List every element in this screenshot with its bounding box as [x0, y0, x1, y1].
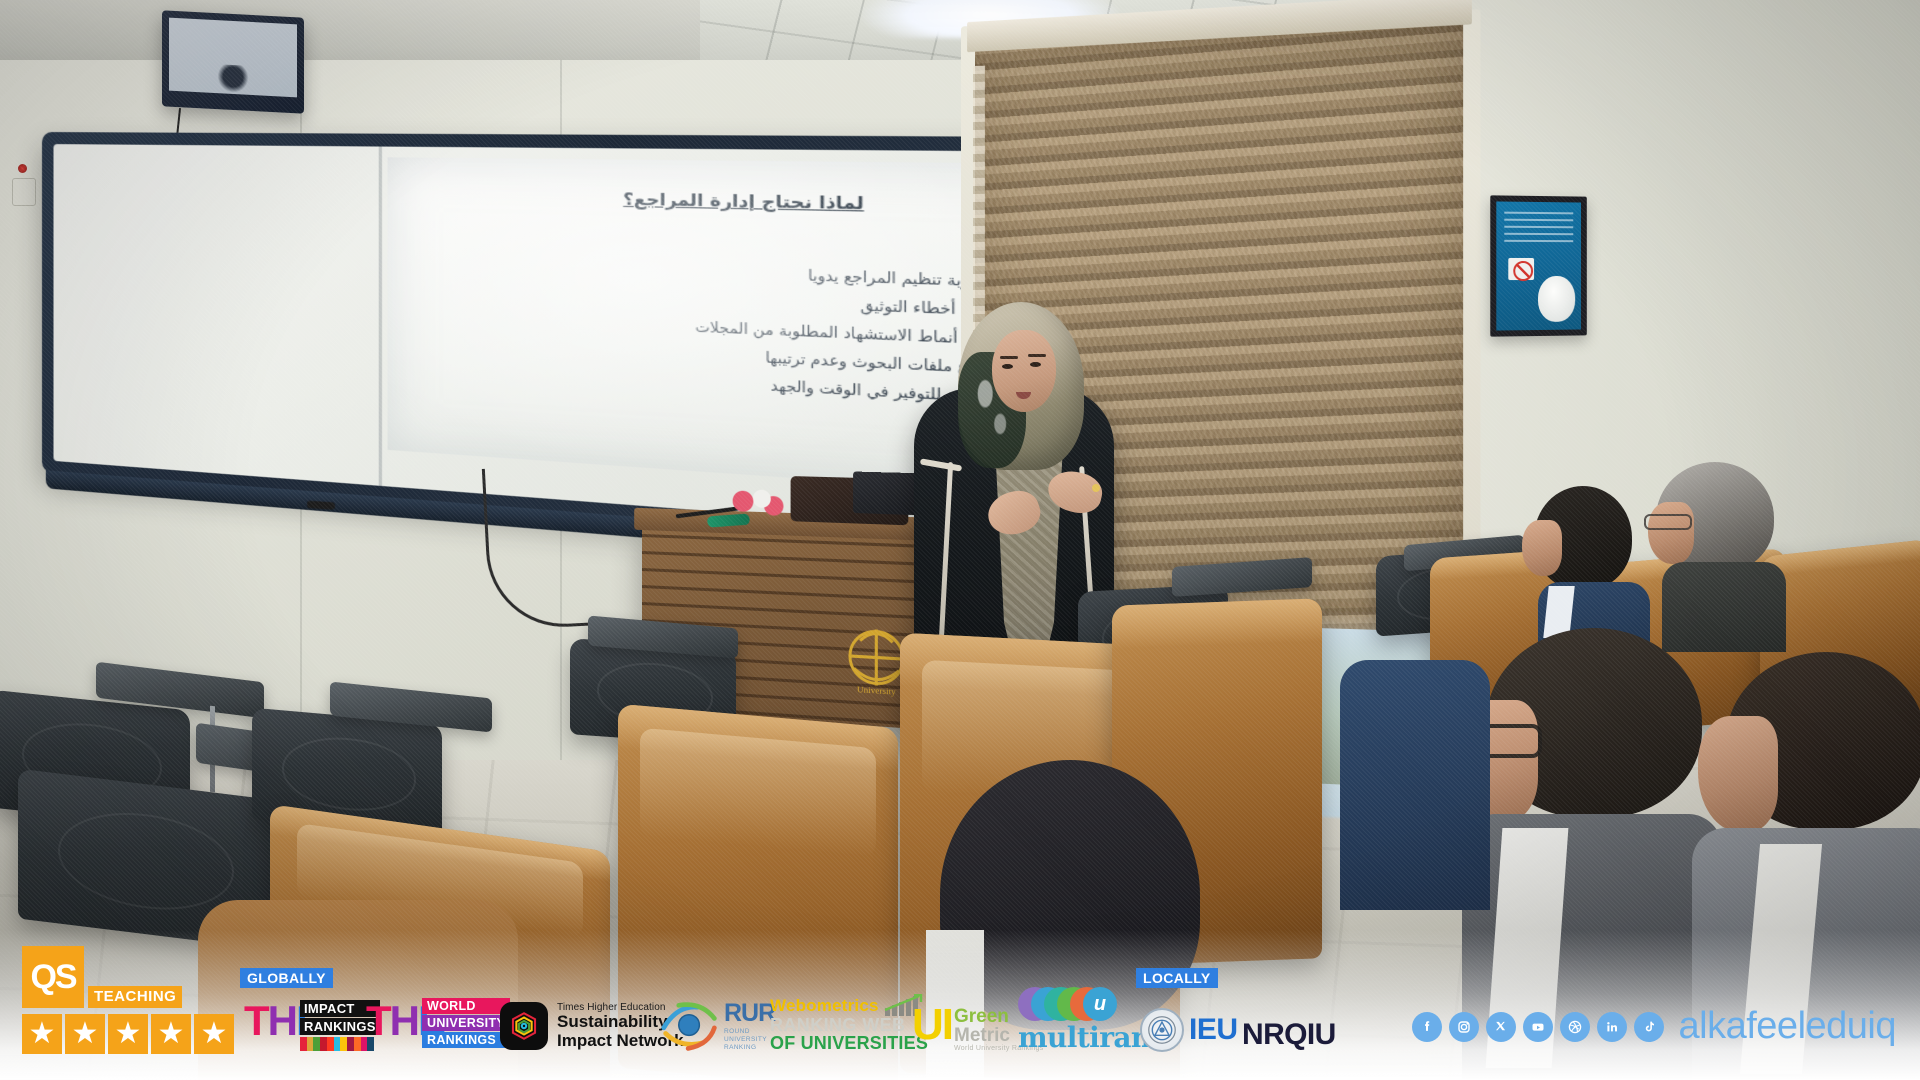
multirank-u-badge: u — [1083, 987, 1117, 1021]
world-line-2: UNIVERSITY — [422, 1015, 510, 1031]
ieu-logo: IEU — [1140, 1008, 1238, 1052]
qs-star-row: ★ ★ ★ ★ ★ — [22, 1014, 234, 1054]
eyeglasses-icon — [1644, 514, 1692, 530]
no-smoking-poster — [1490, 195, 1587, 336]
wall-socket-upper — [12, 178, 36, 206]
qs-star-icon: ★ — [108, 1014, 148, 1054]
wall-picture-image — [169, 18, 297, 98]
ieu-wordmark: IEU — [1189, 1013, 1238, 1047]
audience-member — [1340, 660, 1480, 900]
ieu-seal-icon — [1140, 1008, 1184, 1052]
whiteboard-panel-split — [379, 147, 382, 486]
sustainability-impact-network-logo: Times Higher Education Sustainability Im… — [500, 1002, 684, 1050]
screenshot-root: لماذا نحتاج إدارة المراجع؟ صعوبة تنظيم ا… — [0, 0, 1920, 1080]
rur-wordmark: RUR — [724, 999, 775, 1028]
x-twitter-icon[interactable] — [1486, 1012, 1516, 1042]
world-line-1: WORLD — [422, 998, 510, 1014]
rur-sub-1: ROUND — [724, 1028, 775, 1036]
presenter-ring — [1092, 484, 1100, 492]
poster-artwork — [1496, 201, 1581, 330]
presenter-eye-right — [1030, 362, 1041, 367]
qs-star-icon: ★ — [65, 1014, 105, 1054]
sensor-light — [18, 164, 27, 173]
rur-sub-3: RANKING — [724, 1044, 775, 1052]
banner-content: QS TEACHING ★ ★ ★ ★ ★ GLOBALLY THE IMPAC… — [0, 930, 1920, 1080]
qs-star-icon: ★ — [194, 1014, 234, 1054]
bottom-logo-banner: QS TEACHING ★ ★ ★ ★ ★ GLOBALLY THE IMPAC… — [0, 930, 1920, 1080]
podium-flowers — [725, 488, 784, 521]
uigm-ui-mark: UI — [912, 1007, 952, 1044]
qs-star-icon: ★ — [151, 1014, 191, 1054]
instagram-icon[interactable] — [1449, 1012, 1479, 1042]
globally-tag: GLOBALLY — [240, 968, 333, 988]
world-line-3: RANKINGS — [422, 1032, 510, 1048]
facebook-icon[interactable] — [1412, 1012, 1442, 1042]
slide-title: لماذا نحتاج إدارة المراجع؟ — [510, 187, 994, 216]
nrqiu-wordmark: NRQIU — [1242, 1018, 1336, 1052]
sustainability-badge-icon — [500, 1002, 548, 1050]
presenter-brow-right — [1028, 354, 1046, 357]
multirank-dots: u — [1018, 987, 1122, 1021]
audience-member — [1646, 462, 1796, 642]
presenter-face — [992, 330, 1056, 412]
no-smoking-icon — [1508, 258, 1534, 280]
the-impact-rankings-logo: THE IMPACT RANKINGS — [244, 992, 364, 1054]
webometrics-line-1: Webometrics — [770, 996, 879, 1016]
rur-sub-2: UNIVERSITY — [724, 1036, 775, 1044]
qs-category-label: TEACHING — [88, 986, 182, 1008]
qs-wordmark: QS — [30, 960, 75, 994]
chair-highlight — [640, 728, 875, 858]
social-links: alkafeeleduiq — [1412, 1005, 1896, 1048]
presenter-eye-left — [1002, 364, 1013, 369]
the-world-university-rankings-logo: THE WORLD UNIVERSITY RANKINGS — [366, 992, 486, 1054]
audience-face — [1698, 716, 1778, 832]
webometrics-line-3: OF UNIVERSITIES — [770, 1034, 929, 1052]
qs-logo-box: QS — [22, 946, 84, 1008]
poster-character — [1538, 276, 1575, 322]
rur-text: RUR ROUND UNIVERSITY RANKING — [724, 999, 775, 1052]
audience-face — [1648, 502, 1694, 564]
webometrics-logo: Webometrics RANKING WEB OF UNIVERSITIES — [770, 994, 929, 1052]
audience-face — [1522, 520, 1562, 576]
whiteboard-marker — [307, 501, 335, 510]
rur-logo: RUR ROUND UNIVERSITY RANKING — [660, 999, 775, 1052]
youtube-icon[interactable] — [1523, 1012, 1553, 1042]
audience-torso — [1340, 660, 1490, 910]
locally-tag: LOCALLY — [1136, 968, 1218, 988]
chair-top-edge — [1112, 598, 1322, 649]
world-stack: WORLD UNIVERSITY RANKINGS — [422, 998, 510, 1049]
poster-text-lines — [1504, 212, 1573, 247]
social-handle[interactable]: alkafeeleduiq — [1679, 1005, 1896, 1048]
wall-picture-art — [216, 64, 250, 96]
wall-picture-frame — [162, 10, 304, 113]
linkedin-icon[interactable] — [1597, 1012, 1627, 1042]
lecture-room-photo: لماذا نحتاج إدارة المراجع؟ صعوبة تنظيم ا… — [0, 0, 1920, 1080]
presenter-brow-left — [1000, 356, 1018, 359]
qs-star-icon: ★ — [22, 1014, 62, 1054]
webometrics-line-2: RANKING WEB — [770, 1016, 929, 1034]
dribbble-icon[interactable] — [1560, 1012, 1590, 1042]
svg-text:University: University — [857, 684, 896, 697]
sdg-color-bar — [300, 1037, 374, 1051]
tiktok-icon[interactable] — [1634, 1012, 1664, 1042]
rur-eye-icon — [660, 999, 720, 1051]
